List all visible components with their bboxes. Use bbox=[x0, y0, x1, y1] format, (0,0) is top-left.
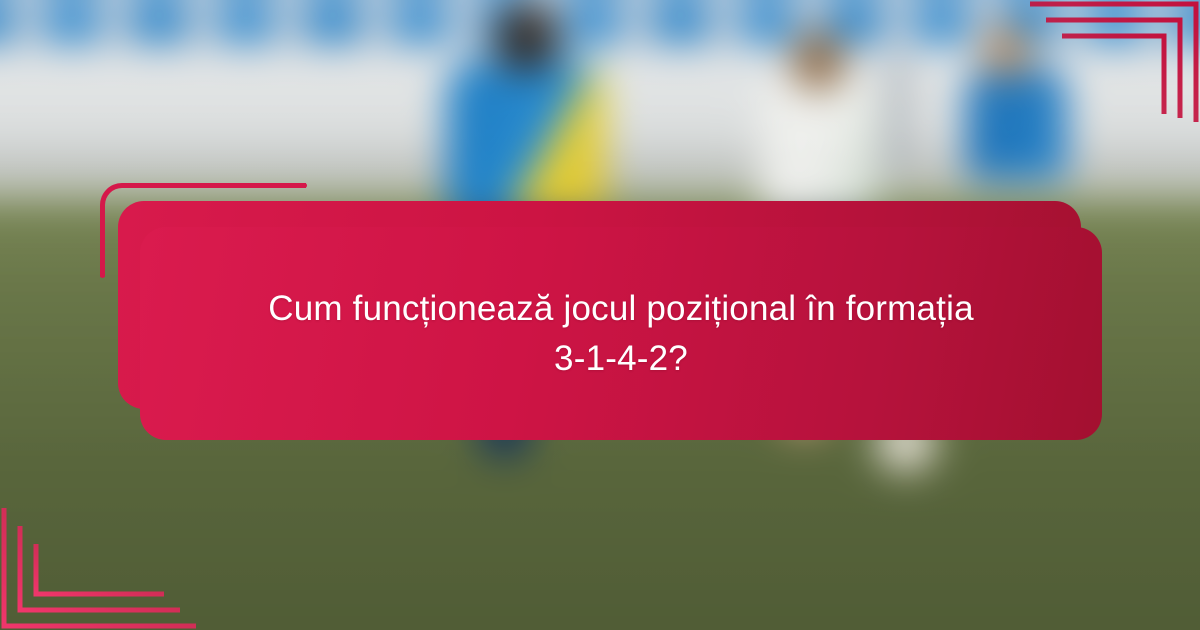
page-title-line-1: Cum funcționează jocul pozițional în for… bbox=[268, 289, 973, 328]
page-title: Cum funcționează jocul pozițional în for… bbox=[191, 284, 1051, 383]
poster-canvas: Cum funcționează jocul pozițional în for… bbox=[0, 0, 1200, 630]
headline-card: Cum funcționează jocul pozițional în for… bbox=[140, 227, 1102, 440]
page-title-line-2: 3-1-4-2? bbox=[554, 339, 688, 378]
